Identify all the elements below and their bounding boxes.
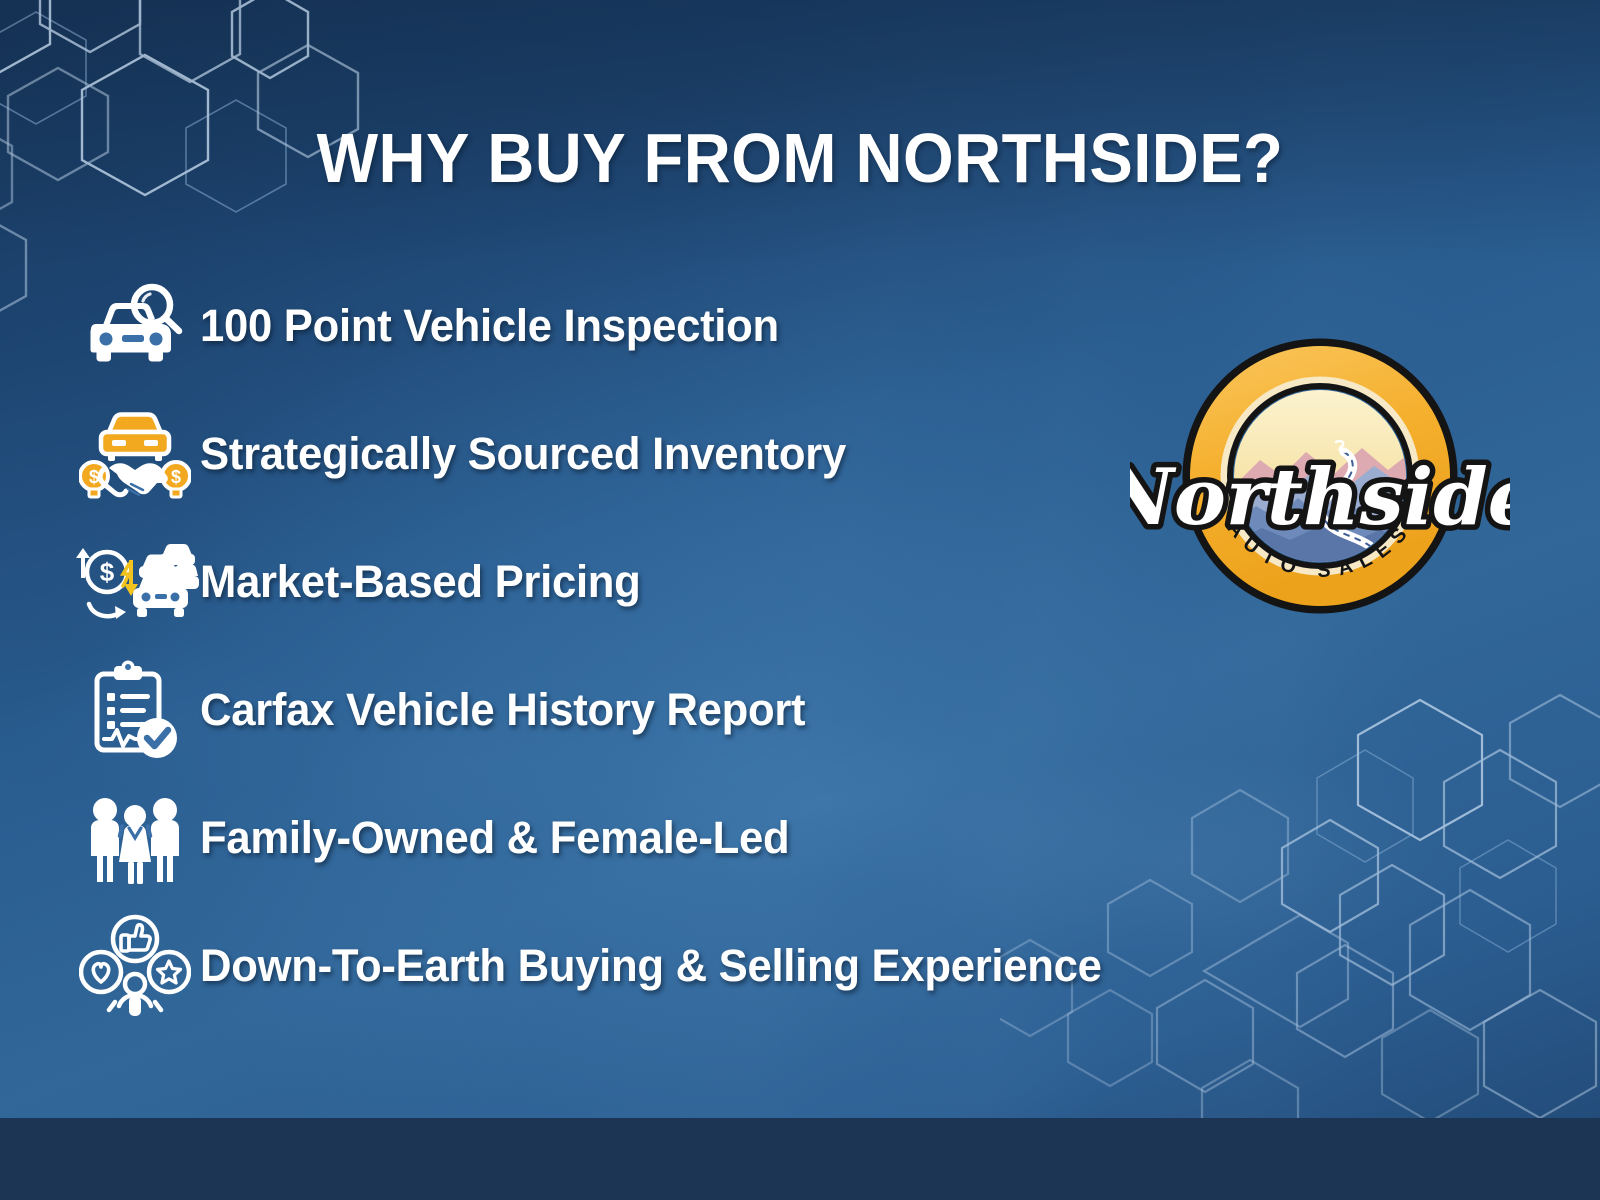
clipboard-check-icon <box>70 656 200 764</box>
logo-brand-name: Northside <box>1130 452 1510 543</box>
northside-auto-sales-logo: AUTO SALES Northside <box>1130 336 1510 646</box>
list-item-label: Family-Owned & Female-Led <box>200 812 789 864</box>
svg-text:$: $ <box>100 557 115 587</box>
price-cycle-cars-icon: $ <box>70 528 200 636</box>
list-item: Down-To-Earth Buying & Selling Experienc… <box>70 902 1350 1030</box>
three-people-icon <box>70 784 200 892</box>
svg-text:$: $ <box>89 467 99 487</box>
slide-content: WHY BUY FROM NORTHSIDE? <box>0 0 1600 1200</box>
list-item-label: Strategically Sourced Inventory <box>200 428 846 480</box>
list-item: Carfax Vehicle History Report <box>70 646 1350 774</box>
car-handshake-money-icon: $ $ <box>70 400 200 508</box>
person-heart-thumbsup-star-icon <box>70 912 200 1020</box>
svg-text:$: $ <box>171 467 181 487</box>
list-item: Family-Owned & Female-Led <box>70 774 1350 902</box>
list-item-label: Down-To-Earth Buying & Selling Experienc… <box>200 940 1102 992</box>
list-item-label: Carfax Vehicle History Report <box>200 684 805 736</box>
list-item-label: Market-Based Pricing <box>200 556 641 608</box>
list-item-label: 100 Point Vehicle Inspection <box>200 300 779 352</box>
car-magnifier-icon <box>70 272 200 380</box>
page-title: WHY BUY FROM NORTHSIDE? <box>56 118 1544 198</box>
